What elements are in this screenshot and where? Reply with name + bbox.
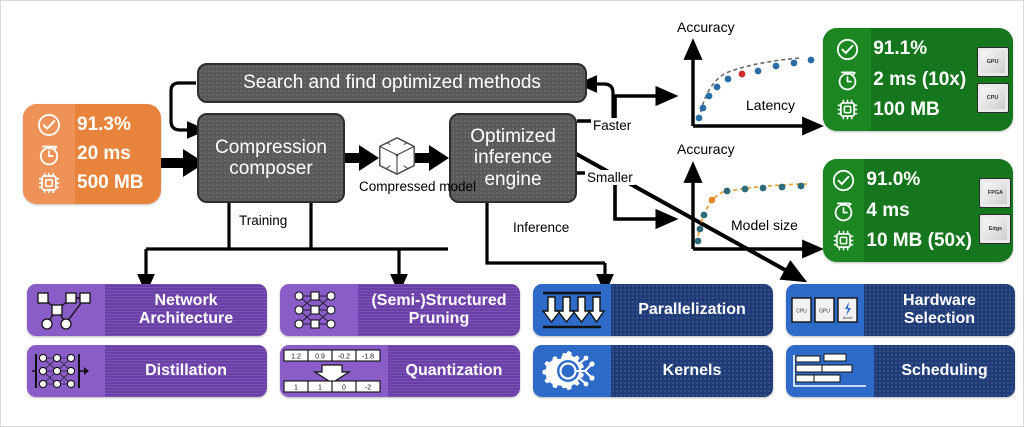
- gear-circuit-icon: [533, 345, 611, 397]
- gpu-chip-icon: GPU: [977, 47, 1009, 77]
- baseline-size: 500 MB: [77, 173, 155, 193]
- optimized-size-2: 10 MB (50x): [866, 231, 972, 251]
- technique-card-quantization[interactable]: 1.2 0.9 -0.2 -1.8 1 1 0 -2 Quantization: [280, 345, 520, 397]
- chips-icon: CPU GPU Accel: [786, 284, 864, 336]
- baseline-metric-values: 91.3% 20 ms 500 MB: [75, 104, 161, 204]
- stopwatch-icon: [831, 198, 856, 223]
- cpu-chip-icon: CPU: [977, 83, 1009, 113]
- optimized-metric-values-1: 91.1% 2 ms (10x) 100 MB: [871, 28, 972, 131]
- optimized-metrics-card-latency: 91.1% 2 ms (10x) 100 MB GPU CPU: [823, 28, 1013, 131]
- edge-chip-icon: Edge: [979, 214, 1011, 244]
- target-hardware-chips-1: GPU CPU: [972, 28, 1013, 131]
- optimized-metric-values-2: 91.0% 4 ms 10 MB (50x): [864, 159, 978, 262]
- svg-text:0: 0: [342, 384, 346, 391]
- baseline-latency: 20 ms: [77, 144, 155, 164]
- technique-label-distillation: Distillation: [105, 345, 267, 397]
- chip-icon: [36, 170, 62, 196]
- chart-modelsize-xlabel: Model size: [731, 217, 798, 233]
- technique-card-hardware-selection[interactable]: CPU GPU Accel Hardware Selection: [786, 284, 1015, 336]
- search-methods-box[interactable]: Search and find optimized methods: [197, 63, 587, 103]
- inference-label: Inference: [513, 220, 569, 235]
- target-hardware-chips-2: FPGA Edge: [978, 159, 1013, 262]
- stopwatch-icon: [835, 67, 860, 92]
- cube-icon: [374, 134, 420, 178]
- svg-text:-1.8: -1.8: [362, 353, 374, 360]
- check-circle-icon: [36, 112, 62, 138]
- chart-modelsize-series: [695, 183, 807, 245]
- optimized-latency-1: 2 ms (10x): [873, 70, 966, 90]
- baseline-metric-icons: [23, 104, 75, 204]
- svg-text:-2: -2: [365, 384, 371, 391]
- technique-label-pruning: (Semi-)Structured Pruning: [358, 284, 520, 336]
- svg-text:1: 1: [294, 384, 298, 391]
- diagram-canvas: 91.3% 20 ms 500 MB Search and find optim…: [0, 0, 1024, 427]
- fpga-chip-icon: FPGA: [979, 178, 1011, 208]
- optimized-accuracy-2: 91.0%: [866, 170, 972, 190]
- arrow-inference-to-search: [587, 84, 613, 121]
- technique-card-distillation[interactable]: Distillation: [27, 345, 267, 397]
- arrow-training-branch: [146, 201, 448, 284]
- chip-icon: [835, 97, 860, 122]
- training-label: Training: [239, 213, 287, 228]
- technique-label-quantization: Quantization: [388, 345, 520, 397]
- optimized-metrics-card-size: 91.0% 4 ms 10 MB (50x) FPGA Edge: [823, 159, 1013, 262]
- technique-card-parallelization[interactable]: Parallelization: [533, 284, 773, 336]
- smaller-label: Smaller: [585, 170, 635, 185]
- chart-latency-xlabel: Latency: [746, 97, 795, 113]
- faster-label: Faster: [591, 118, 633, 133]
- technique-label-hardware-selection: Hardware Selection: [864, 284, 1015, 336]
- chart-modelsize-ylabel: Accuracy: [677, 141, 735, 157]
- chart-modelsize-axes: [693, 172, 813, 249]
- optimized-accuracy-1: 91.1%: [873, 39, 966, 59]
- technique-label-kernels: Kernels: [611, 345, 773, 397]
- baseline-accuracy: 91.3%: [77, 115, 155, 135]
- distill-network-icon: [27, 345, 105, 397]
- optimized-latency-2: 4 ms: [866, 201, 972, 221]
- pruned-network-icon: [280, 284, 358, 336]
- compression-composer-box[interactable]: Compression composer: [197, 113, 345, 203]
- baseline-metrics-card: 91.3% 20 ms 500 MB: [23, 104, 161, 204]
- gantt-icon: [786, 345, 874, 397]
- chip-icon: [831, 228, 856, 253]
- svg-text:1: 1: [318, 384, 322, 391]
- stopwatch-icon: [36, 141, 62, 167]
- down-arrows-icon: [533, 284, 611, 336]
- svg-text:CPU: CPU: [796, 309, 807, 315]
- svg-text:1.2: 1.2: [291, 353, 301, 360]
- optimized-metric-icons-1: [823, 28, 871, 131]
- svg-text:GPU: GPU: [819, 309, 830, 315]
- technique-card-network-architecture[interactable]: Network Architecture: [27, 284, 267, 336]
- check-circle-icon: [831, 168, 856, 193]
- svg-text:Accel: Accel: [843, 315, 853, 320]
- technique-card-kernels[interactable]: Kernels: [533, 345, 773, 397]
- check-circle-icon: [835, 37, 860, 62]
- technique-label-scheduling: Scheduling: [874, 345, 1015, 397]
- quantize-grid-icon: 1.2 0.9 -0.2 -1.8 1 1 0 -2: [280, 345, 388, 397]
- svg-text:0.9: 0.9: [315, 353, 325, 360]
- compressed-model-caption: Compressed model: [359, 179, 435, 195]
- arrow-search-feedback: [171, 83, 197, 130]
- graph-nodes-icon: [27, 284, 105, 336]
- chart-latency-ylabel: Accuracy: [677, 19, 735, 35]
- technique-card-scheduling[interactable]: Scheduling: [786, 345, 1015, 397]
- arrow-inference-branch: [487, 201, 605, 284]
- optimized-metric-icons-2: [823, 159, 864, 262]
- technique-label-parallelization: Parallelization: [611, 284, 773, 336]
- technique-card-pruning[interactable]: (Semi-)Structured Pruning: [280, 284, 520, 336]
- optimized-size-1: 100 MB: [873, 100, 966, 120]
- svg-text:-0.2: -0.2: [338, 353, 350, 360]
- technique-label-network-architecture: Network Architecture: [105, 284, 267, 336]
